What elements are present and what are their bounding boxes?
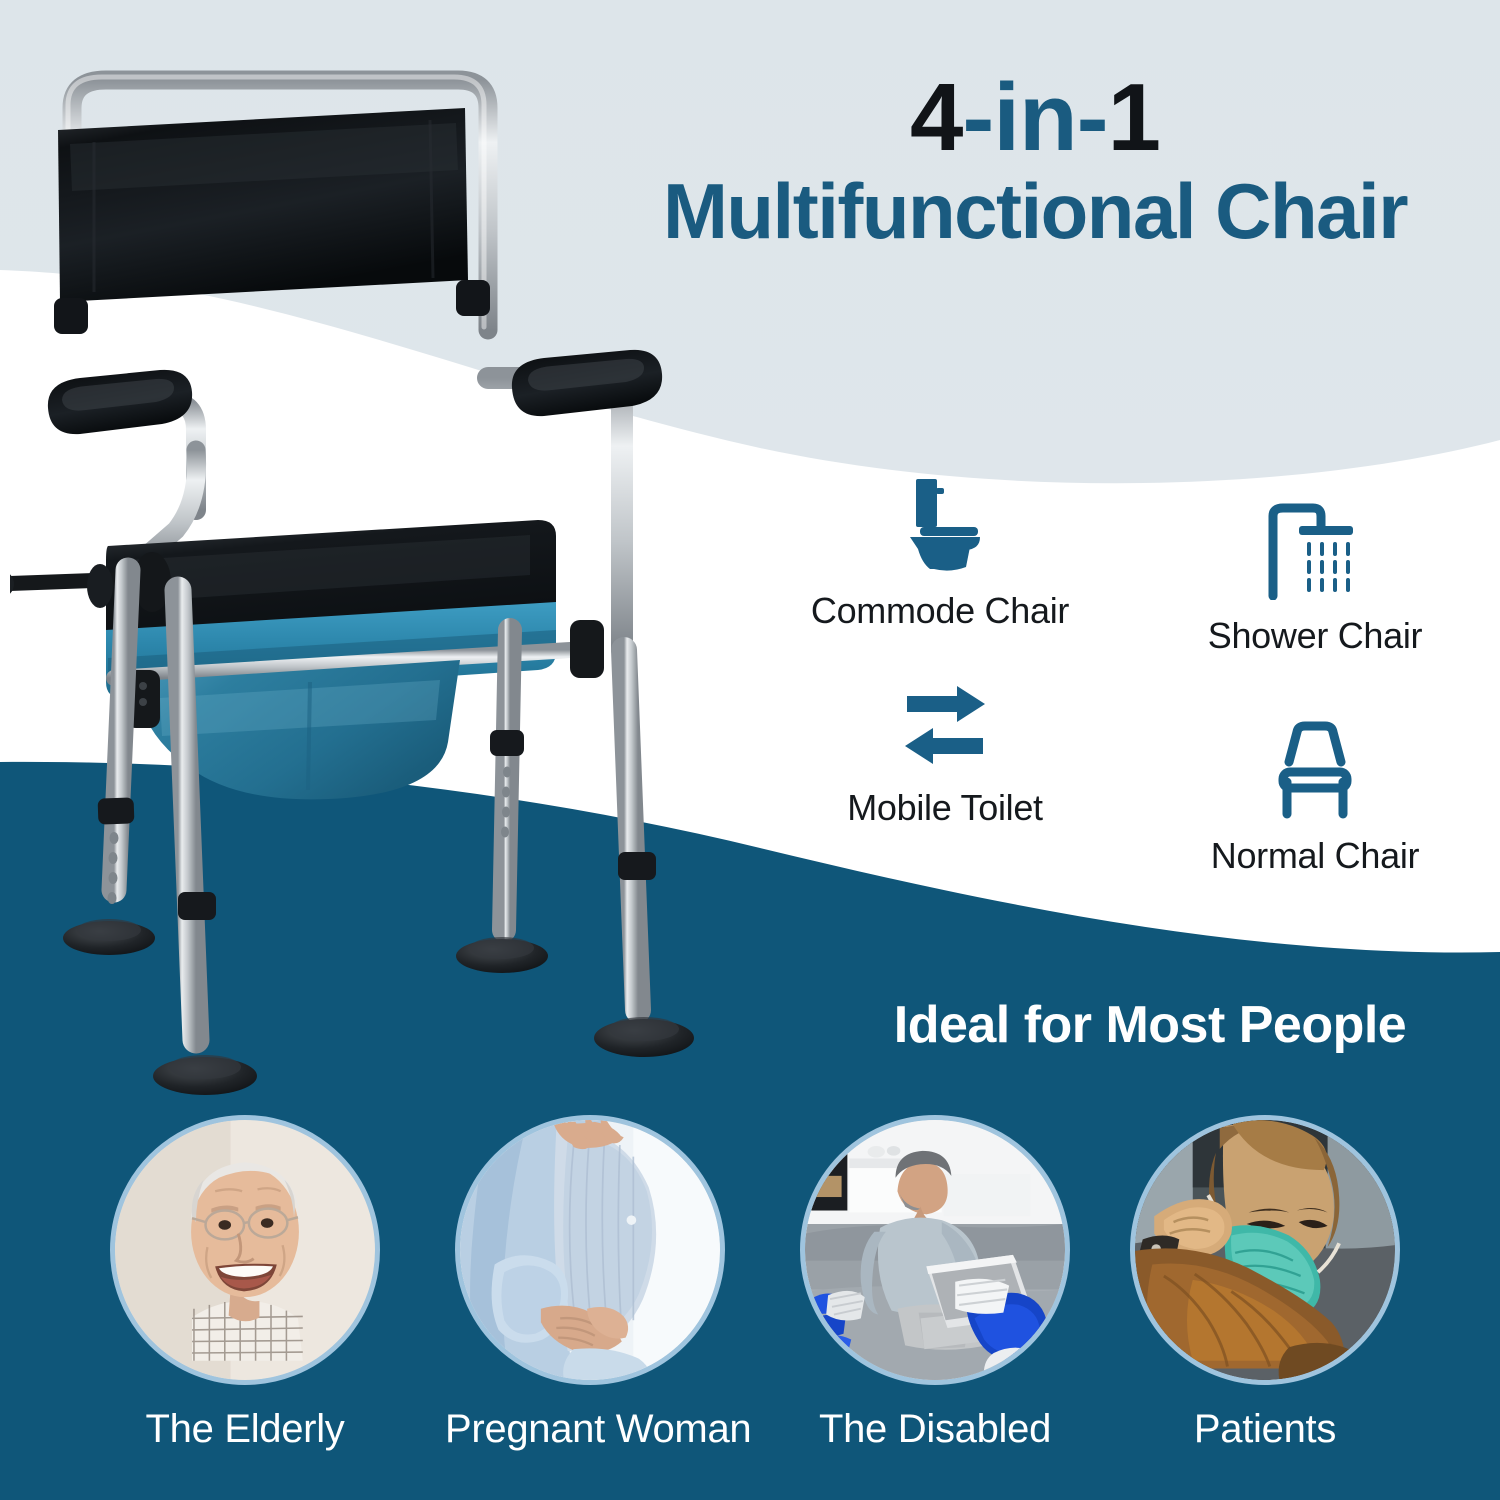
- headline-in: -in-: [962, 64, 1107, 171]
- feature-normal-chair: Normal Chair: [1140, 720, 1490, 877]
- clamp-screw-a: [139, 682, 147, 690]
- foot-rear-right-top: [470, 937, 534, 959]
- leg-rear-right: [504, 630, 510, 930]
- headline-1: 1: [1108, 64, 1160, 171]
- shower-head-icon: [1135, 500, 1495, 605]
- feature-mobile-toilet: Mobile Toilet: [770, 680, 1120, 829]
- avatar-pregnant-woman: [455, 1115, 725, 1385]
- two-way-arrows-icon: [770, 680, 1120, 777]
- feature-commode-chair-label: Commode Chair: [811, 590, 1069, 631]
- lever-knob: [10, 570, 14, 598]
- feature-shower-chair-label: Shower Chair: [1208, 615, 1423, 656]
- ideal-for-most-people-title: Ideal for Most People: [830, 995, 1470, 1055]
- person-patients-caption: Patients: [1120, 1407, 1410, 1452]
- people-row: The Elderly: [60, 1115, 1460, 1495]
- person-pregnant-woman: Pregnant Woman: [445, 1115, 735, 1452]
- photo-man-with-leg-cast: [805, 1120, 1065, 1380]
- feature-normal-chair-label: Normal Chair: [1211, 835, 1419, 876]
- person-disabled: The Disabled: [790, 1115, 1080, 1452]
- feature-mobile-toilet-label: Mobile Toilet: [847, 787, 1043, 828]
- chair-icon: [1140, 720, 1490, 825]
- leg-collar-front-right: [618, 852, 656, 880]
- foot-front-left-top: [77, 919, 141, 941]
- avatar-disabled: [800, 1115, 1070, 1385]
- foot-rear-left-top: [169, 1055, 241, 1079]
- toilet-icon: [760, 475, 1120, 580]
- person-patients: Patients: [1120, 1115, 1410, 1452]
- photo-pregnant-woman: [460, 1120, 720, 1380]
- photo-woman-coughing-with-mask: [1135, 1120, 1395, 1380]
- leg-collar-rear-left: [178, 892, 216, 920]
- headline-line-2: Multifunctional Chair: [585, 172, 1485, 250]
- foot-front-right-top: [609, 1017, 679, 1041]
- headline-block: 4-in-1 Multifunctional Chair: [585, 70, 1485, 250]
- leg-collar-front-left: [98, 797, 135, 824]
- person-elderly: The Elderly: [100, 1115, 390, 1452]
- feature-shower-chair: Shower Chair: [1135, 500, 1495, 657]
- avatar-patients: [1130, 1115, 1400, 1385]
- headline-4: 4: [910, 64, 962, 171]
- photo-smiling-elderly-man: [115, 1120, 375, 1380]
- bucket-seam: [308, 682, 310, 790]
- feature-list: Commode Chair Shower Chair: [760, 465, 1500, 895]
- person-elderly-caption: The Elderly: [100, 1407, 390, 1452]
- infographic-canvas: 4-in-1 Multifunctional Chair Commode Cha…: [0, 0, 1500, 1500]
- person-pregnant-woman-caption: Pregnant Woman: [445, 1407, 735, 1452]
- feature-commode-chair: Commode Chair: [760, 475, 1120, 632]
- leg-front-right: [624, 650, 638, 1010]
- clamp-screw-b: [139, 698, 147, 706]
- headline-line-1: 4-in-1: [585, 70, 1485, 166]
- lever-collar: [87, 564, 113, 608]
- avatar-elderly: [110, 1115, 380, 1385]
- frame-clamp-right: [570, 620, 604, 678]
- leg-collar-rear-right: [490, 730, 524, 756]
- leg-rear-left: [178, 590, 196, 1040]
- person-disabled-caption: The Disabled: [790, 1407, 1080, 1452]
